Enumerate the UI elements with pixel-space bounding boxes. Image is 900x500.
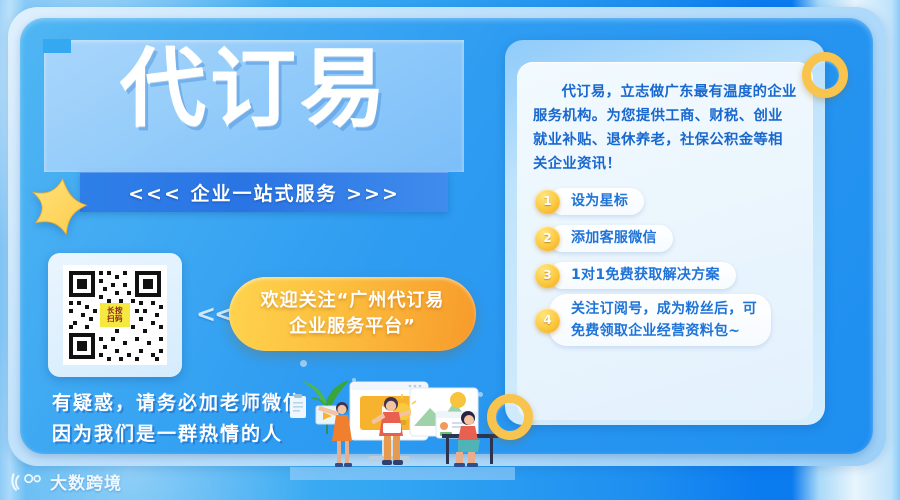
subtitle-ribbon: <<< 企业一站式服务 >>> xyxy=(80,172,448,212)
poster-canvas: 代订易 <<< 企业一站式服务 >>> xyxy=(0,0,900,500)
slogan-block: 有疑惑，请务必加老师微信 因为我们是一群热情的人 xyxy=(52,388,304,450)
left-arrows-icon: << xyxy=(196,300,232,328)
step-label-line1: 关注订阅号，成为粉丝后，可 xyxy=(571,301,757,317)
step-label: 设为星标 xyxy=(571,191,628,212)
qr-code-card[interactable]: 长按 扫码 xyxy=(48,253,182,377)
step-label: 添加客服微信 xyxy=(571,228,657,249)
person-left xyxy=(316,402,352,467)
step-label: 1对1免费获取解决方案 xyxy=(571,265,720,286)
subtitle-text: <<< 企业一站式服务 >>> xyxy=(128,179,400,206)
star-icon xyxy=(22,175,96,247)
follow-account-button[interactable]: 欢迎关注“广州代订易 企业服务平台” xyxy=(229,277,476,351)
step-badge: 2 xyxy=(535,226,560,251)
list-item[interactable]: 4 关注订阅号，成为粉丝后，可 免费领取企业经营资料包~ xyxy=(533,297,797,343)
slogan-line1: 有疑惑，请务必加老师微信 xyxy=(52,388,304,419)
welcome-line1: 欢迎关注“广州代订易 xyxy=(261,288,445,314)
step-pill[interactable]: 添加客服微信 xyxy=(549,225,673,252)
list-item[interactable]: 1 设为星标 xyxy=(533,186,797,216)
qr-center-line2: 扫码 xyxy=(107,315,123,323)
brand-logo-icon xyxy=(10,471,44,493)
decor-dot xyxy=(300,360,307,367)
step-badge: 3 xyxy=(535,263,560,288)
right-panel-card: 代订易，立志做广东最有温度的企业服务机构。为您提供工商、财税、创业就业补贴、退休… xyxy=(517,62,813,420)
clipboard-decor xyxy=(290,394,306,418)
qr-center-label: 长按 扫码 xyxy=(100,303,130,327)
watermark: 大数跨境 xyxy=(10,469,122,494)
step-badge: 1 xyxy=(535,189,560,214)
welcome-line2: 企业服务平台” xyxy=(289,314,416,340)
step-pill[interactable]: 关注订阅号，成为粉丝后，可 免费领取企业经营资料包~ xyxy=(549,294,771,346)
watermark-text: 大数跨境 xyxy=(50,469,122,494)
list-item[interactable]: 3 1对1免费获取解决方案 xyxy=(533,260,797,290)
slogan-line2: 因为我们是一群热情的人 xyxy=(52,419,304,450)
steps-list: 1 设为星标 2 添加客服微信 3 1对1免费获取解决方案 4 xyxy=(533,186,797,343)
qr-code-image[interactable]: 长按 扫码 xyxy=(63,265,167,365)
ring-decor-top-right xyxy=(802,52,848,98)
page-title: 代订易 xyxy=(120,46,390,132)
step-pill[interactable]: 设为星标 xyxy=(549,188,644,215)
list-item[interactable]: 2 添加客服微信 xyxy=(533,223,797,253)
step-label-line2: 免费领取企业经营资料包~ xyxy=(571,323,740,339)
teamwork-illustration xyxy=(290,368,515,480)
ring-decor-bottom-left xyxy=(487,394,533,440)
step-pill[interactable]: 1对1免费获取解决方案 xyxy=(549,262,736,289)
step-badge: 4 xyxy=(535,308,560,333)
intro-paragraph: 代订易，立志做广东最有温度的企业服务机构。为您提供工商、财税、创业就业补贴、退休… xyxy=(533,80,797,176)
